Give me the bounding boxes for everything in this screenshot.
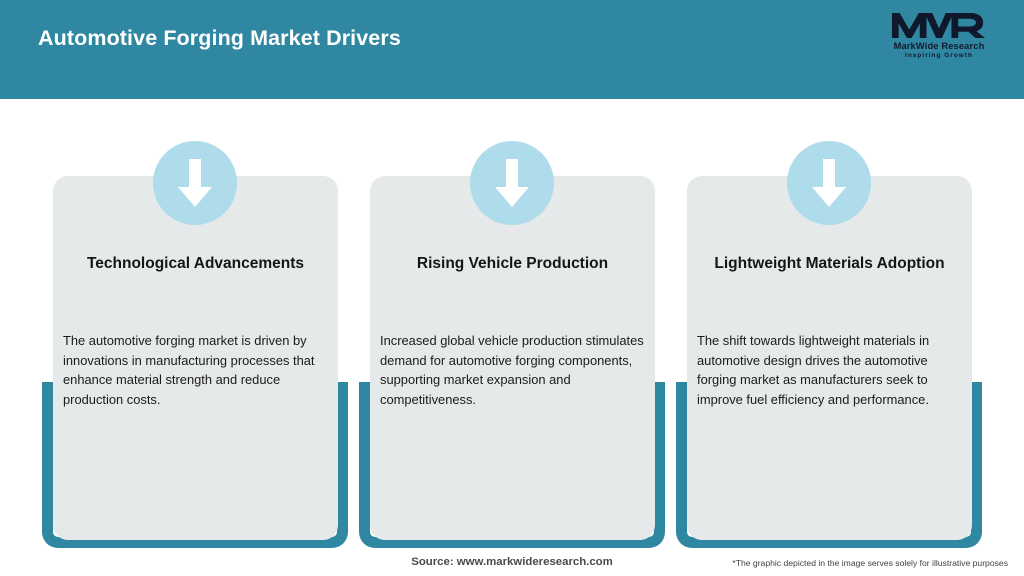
arrow-down-icon [153,141,237,225]
card-heading-2: Rising Vehicle Production [380,253,645,275]
card-heading-3: Lightweight Materials Adoption [697,253,962,275]
page-title: Automotive Forging Market Drivers [38,26,401,51]
card-body-1: The automotive forging market is driven … [63,331,331,409]
brand-logo: MarkWide Research Inspiring Growth [880,10,998,68]
arrow-down-glyph [810,157,848,209]
card-body-2: Increased global vehicle production stim… [380,331,648,409]
arrow-down-glyph [176,157,214,209]
mwr-logo-icon [891,10,987,40]
card-heading-1: Technological Advancements [63,253,328,275]
arrow-down-icon [787,141,871,225]
arrow-down-icon [470,141,554,225]
arrow-down-glyph [493,157,531,209]
card-body-3: The shift towards lightweight materials … [697,331,965,409]
logo-tagline: Inspiring Growth [905,52,973,59]
disclaimer-note: *The graphic depicted in the image serve… [732,558,1008,568]
logo-company-name: MarkWide Research [894,41,985,51]
